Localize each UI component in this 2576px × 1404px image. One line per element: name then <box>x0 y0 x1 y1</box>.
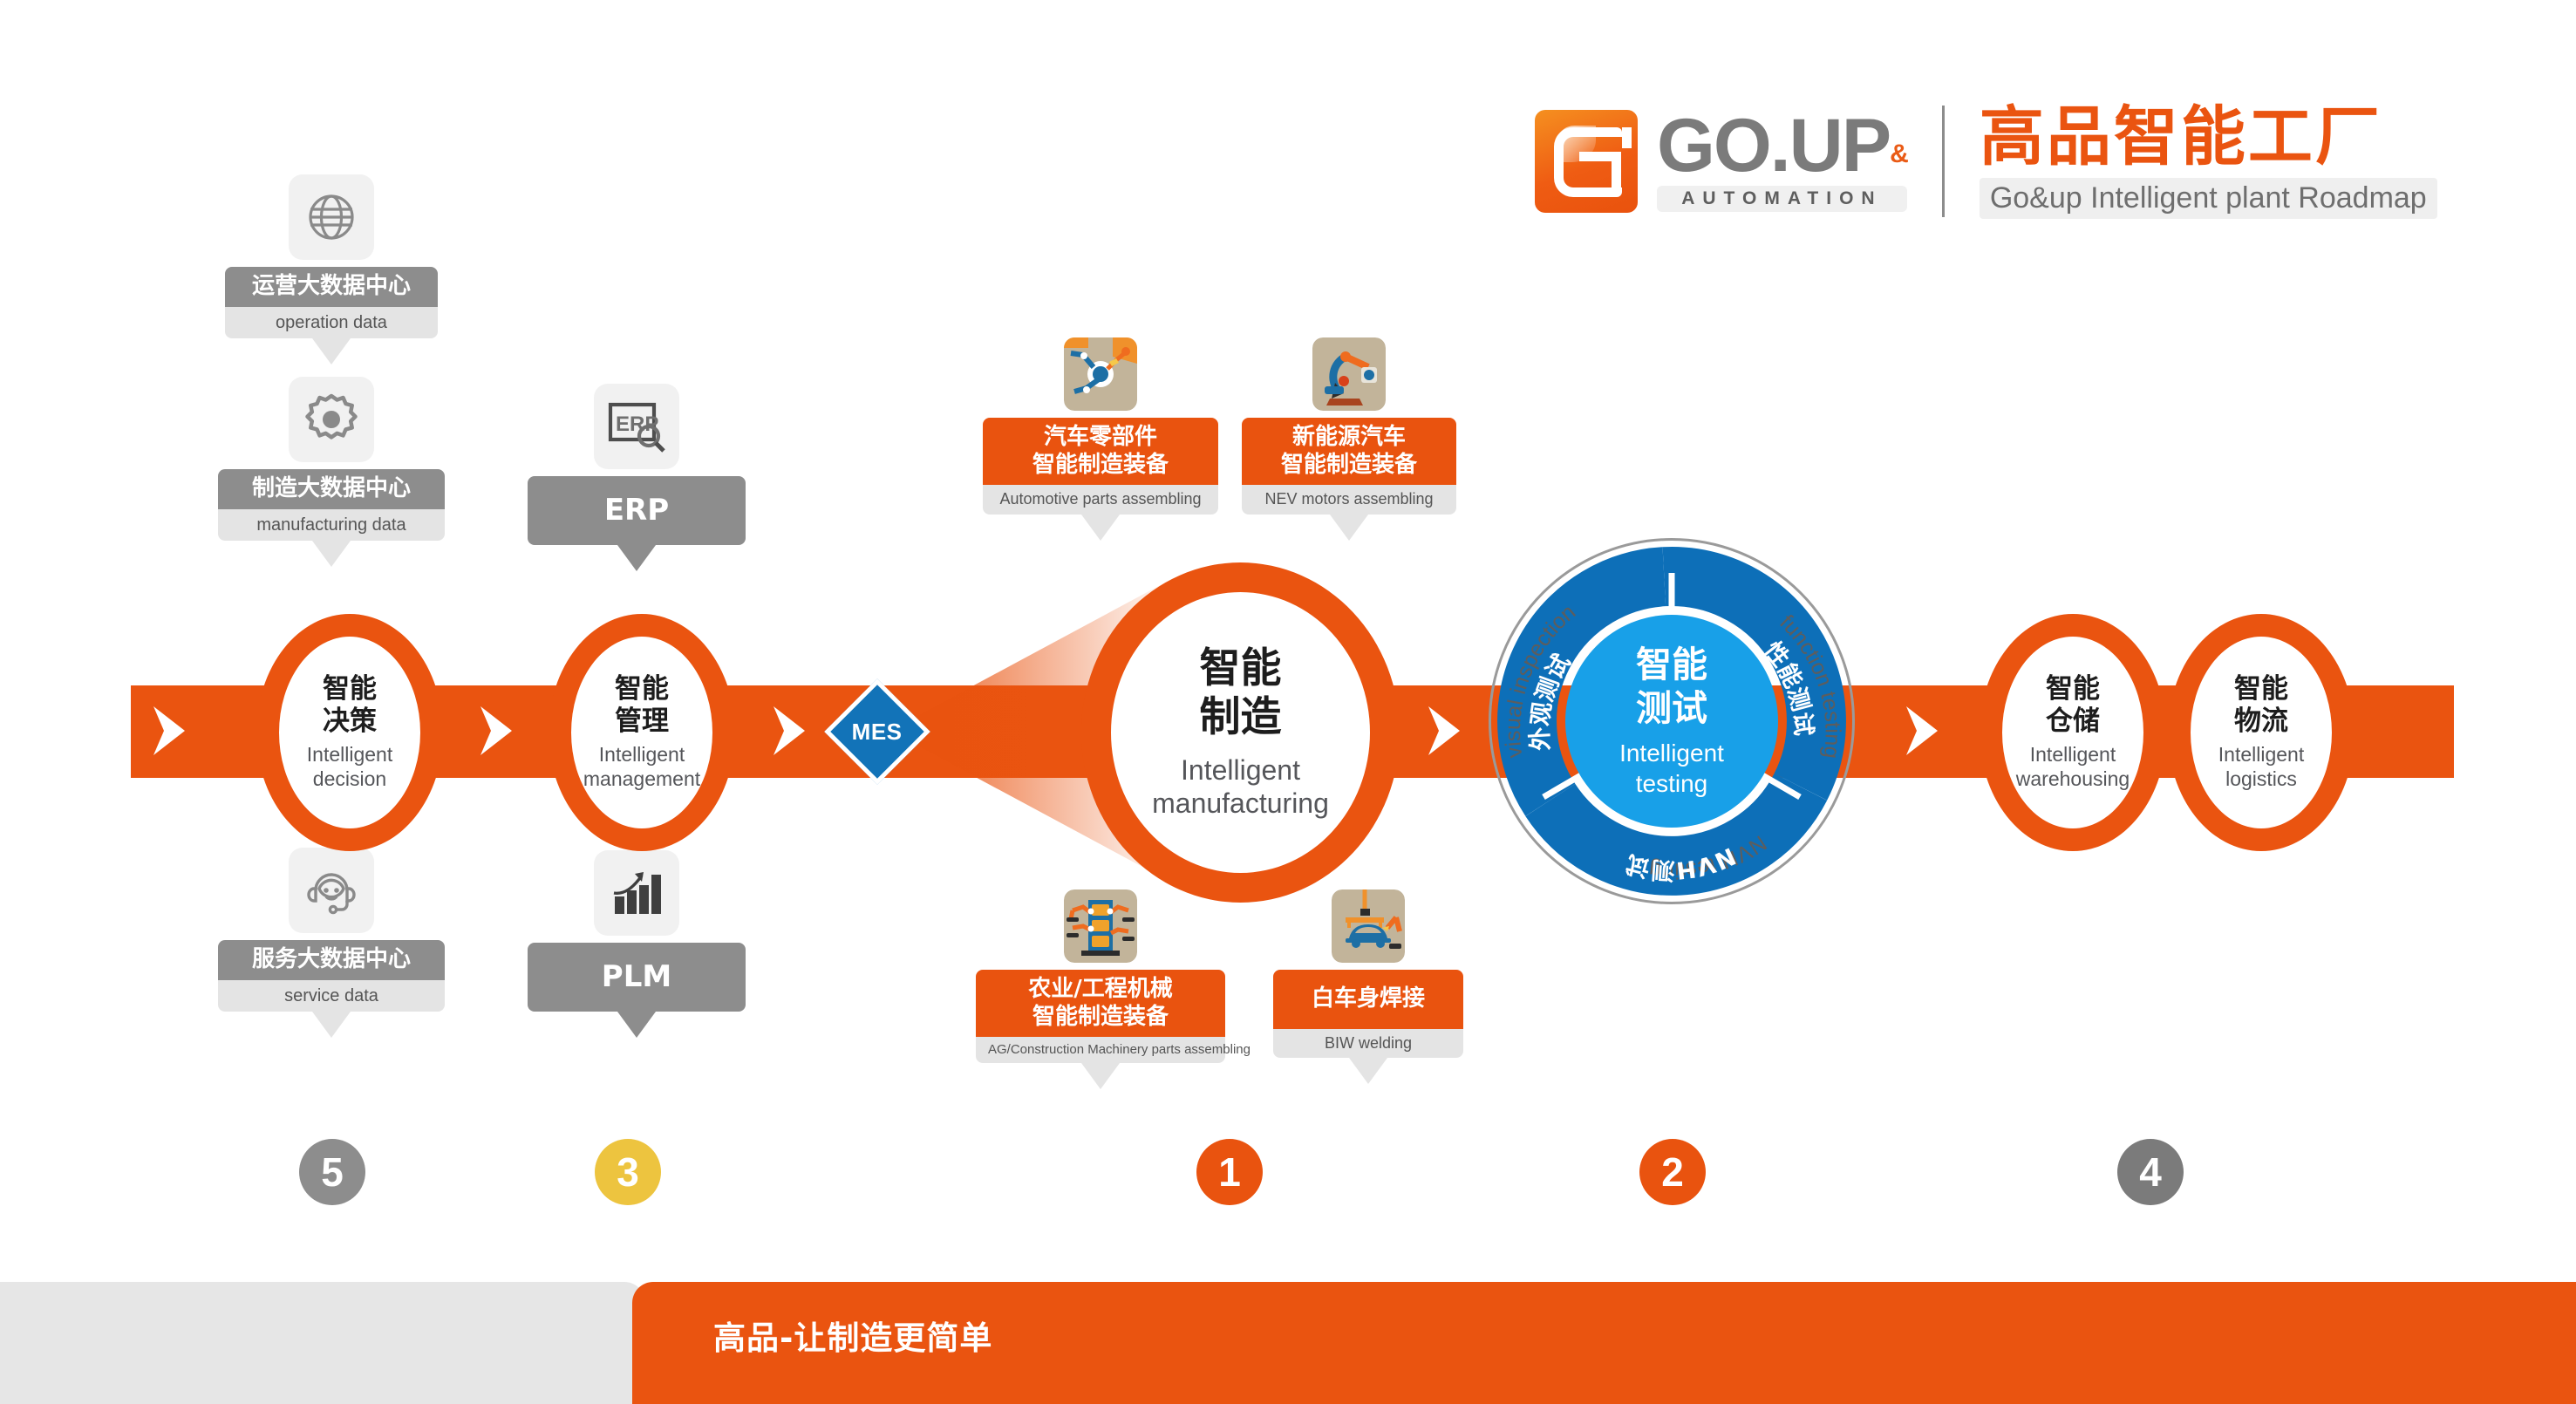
callout-biw-welding[interactable]: 白车身焊接 BIW welding <box>1273 889 1463 1084</box>
callout-title-en: manufacturing data <box>218 509 445 541</box>
callout-title-en: operation data <box>225 307 438 338</box>
footer-orange-panel: 高品-让制造更简单 <box>632 1282 2576 1404</box>
logo-letters: GO.UP& <box>1657 111 1907 182</box>
step-number-badge-2[interactable]: 2 <box>1639 1139 1706 1205</box>
stage-cn-line1: 智能 <box>323 673 377 705</box>
donut-core: 智能 测试 Intelligent testing <box>1565 615 1778 828</box>
footer-slogan: 高品-让制造更简单 <box>713 1312 992 1359</box>
callout-plm[interactable]: PLM <box>528 850 746 1038</box>
callout-tail <box>1330 515 1368 541</box>
step-number-value: 2 <box>1661 1148 1684 1196</box>
equipment-cn-line2: 智能制造装备 <box>1032 452 1169 478</box>
step-number-value: 1 <box>1218 1148 1241 1196</box>
callout-title-cn: 制造大数据中心 <box>218 469 445 509</box>
testing-core-en2: testing <box>1636 770 1708 797</box>
callout-title-en: service data <box>218 980 445 1012</box>
erp-search-icon: ERP <box>594 384 679 469</box>
stage-cn-line2: 物流 <box>2234 705 2288 737</box>
testing-core-cn2: 测试 <box>1636 687 1707 729</box>
stage-cn-line2: 决策 <box>323 705 377 737</box>
callout-tail <box>617 545 656 571</box>
stage-cn-line1: 智能 <box>2234 673 2288 705</box>
logo-ampersand: & <box>1890 140 1907 168</box>
mes-label: MES <box>852 719 903 746</box>
step-number-value: 4 <box>2139 1148 2162 1196</box>
stage-en-line1: Intelligent <box>307 743 392 766</box>
callout-title-cn: 服务大数据中心 <box>218 940 445 980</box>
stage-ring-intelligent-management[interactable]: 智能 管理 Intelligent management <box>549 614 735 851</box>
callout-tail <box>312 1012 351 1038</box>
callout-automotive-parts[interactable]: 汽车零部件 智能制造装备 Automotive parts assembling <box>983 337 1218 541</box>
stage-cn-line2: 管理 <box>615 705 669 737</box>
callout-tail <box>617 1012 656 1038</box>
header-titles: 高品智能工厂 Go&up Intelligent plant Roadmap <box>1980 104 2437 220</box>
stage-en-line1: Intelligent <box>1181 754 1300 786</box>
step-number-badge-5[interactable]: 5 <box>299 1139 365 1205</box>
callout-tail <box>312 338 351 365</box>
stage-en-line1: Intelligent <box>2030 743 2116 766</box>
stage-cn-line1: 智能 <box>1200 644 1282 692</box>
callout-ag-construction[interactable]: 农业/工程机械 智能制造装备 AG/Construction Machinery… <box>976 889 1225 1089</box>
step-number-badge-4[interactable]: 4 <box>2117 1139 2184 1205</box>
equipment-cn-line1: 农业/工程机械 <box>1028 976 1173 1002</box>
goup-logo-icon <box>1535 110 1638 213</box>
intelligent-testing-donut[interactable]: visual inspection function testing NVH t… <box>1489 538 1855 904</box>
stage-cn-line2: 仓储 <box>2046 705 2100 737</box>
equipment-cn-line1: 新能源汽车 <box>1292 424 1406 450</box>
system-label: PLM <box>528 943 746 1012</box>
car-welding-icon <box>1332 889 1405 963</box>
palletizing-robot-icon <box>1064 889 1137 963</box>
callout-tail <box>1081 1063 1120 1089</box>
equipment-cn-line1: 汽车零部件 <box>1044 424 1157 450</box>
page-title-cn: 高品智能工厂 <box>1980 104 2437 172</box>
infographic-canvas: GO.UP& AUTOMATION 高品智能工厂 Go&up Intellige… <box>0 0 2576 1371</box>
stage-en-line2: logistics <box>2225 767 2297 790</box>
step-number-badge-1[interactable]: 1 <box>1196 1139 1263 1205</box>
step-number-badge-3[interactable]: 3 <box>595 1139 661 1205</box>
growth-chart-icon <box>594 850 679 936</box>
stage-ring-intelligent-warehousing[interactable]: 智能 仓储 Intelligent warehousing <box>1980 614 2166 851</box>
stage-ring-intelligent-decision[interactable]: 智能 决策 Intelligent decision <box>256 614 443 851</box>
svg-text:ERP: ERP <box>616 412 658 436</box>
stage-en-line2: warehousing <box>2016 767 2130 790</box>
globe-icon <box>289 174 374 260</box>
testing-core-en1: Intelligent <box>1619 739 1724 767</box>
callout-operation-data[interactable]: 运营大数据中心 operation data <box>225 174 438 365</box>
chevron-arrow-4 <box>1903 703 1941 759</box>
callout-tail <box>312 541 351 567</box>
testing-core-cn1: 智能 <box>1636 644 1707 685</box>
callout-tail <box>1349 1058 1387 1084</box>
equipment-en: AG/Construction Machinery parts assembli… <box>976 1037 1225 1063</box>
chevron-arrow-3 <box>1425 703 1463 759</box>
callout-manufacturing-data[interactable]: 制造大数据中心 manufacturing data <box>218 377 445 567</box>
stage-ring-intelligent-logistics[interactable]: 智能 物流 Intelligent logistics <box>2168 614 2355 851</box>
system-label: ERP <box>528 476 746 545</box>
step-number-value: 5 <box>321 1148 344 1196</box>
step-number-value: 3 <box>617 1148 639 1196</box>
robot-arm-icon <box>1312 337 1386 411</box>
equipment-cn-line2: 智能制造装备 <box>1281 452 1417 478</box>
stage-ring-intelligent-manufacturing[interactable]: 智能 制造 Intelligent manufacturing <box>1081 562 1400 903</box>
equipment-en: BIW welding <box>1273 1029 1463 1059</box>
chevron-arrow-0 <box>150 703 188 759</box>
stage-cn-line2: 制造 <box>1200 693 1282 741</box>
callout-service-data[interactable]: 服务大数据中心 service data <box>218 848 445 1038</box>
headset-icon <box>289 848 374 933</box>
footer-gray-panel <box>0 1282 645 1404</box>
stage-en-line2: management <box>583 767 700 790</box>
stage-en-line1: Intelligent <box>2218 743 2304 766</box>
page-title-en: Go&up Intelligent plant Roadmap <box>1980 178 2437 219</box>
gear-icon <box>289 377 374 462</box>
chevron-arrow-2 <box>770 703 808 759</box>
stage-en-line1: Intelligent <box>599 743 685 766</box>
callout-tail <box>1081 515 1120 541</box>
header-divider <box>1942 106 1945 217</box>
chevron-arrow-1 <box>477 703 515 759</box>
stage-en-line2: decision <box>313 767 386 790</box>
logo-letters-text: GO.UP <box>1657 104 1890 187</box>
logo-subtitle: AUTOMATION <box>1657 186 1907 212</box>
equipment-cn-line2: 智能制造装备 <box>1032 1004 1169 1030</box>
callout-title-cn: 运营大数据中心 <box>225 267 438 307</box>
callout-erp[interactable]: ERP ERP <box>528 384 746 571</box>
equipment-en: Automotive parts assembling <box>983 485 1218 515</box>
goup-wordmark: GO.UP& AUTOMATION <box>1657 111 1907 212</box>
equipment-cn-line1: 白车身焊接 <box>1312 985 1425 1012</box>
stage-en-line2: manufacturing <box>1152 787 1329 819</box>
stage-cn-line1: 智能 <box>2046 673 2100 705</box>
robot-gear-icon <box>1064 337 1137 411</box>
stage-cn-line1: 智能 <box>615 673 669 705</box>
brand-header: GO.UP& AUTOMATION 高品智能工厂 Go&up Intellige… <box>1535 92 2546 231</box>
equipment-en: NEV motors assembling <box>1242 485 1456 515</box>
callout-nev-motors[interactable]: 新能源汽车 智能制造装备 NEV motors assembling <box>1242 337 1456 541</box>
